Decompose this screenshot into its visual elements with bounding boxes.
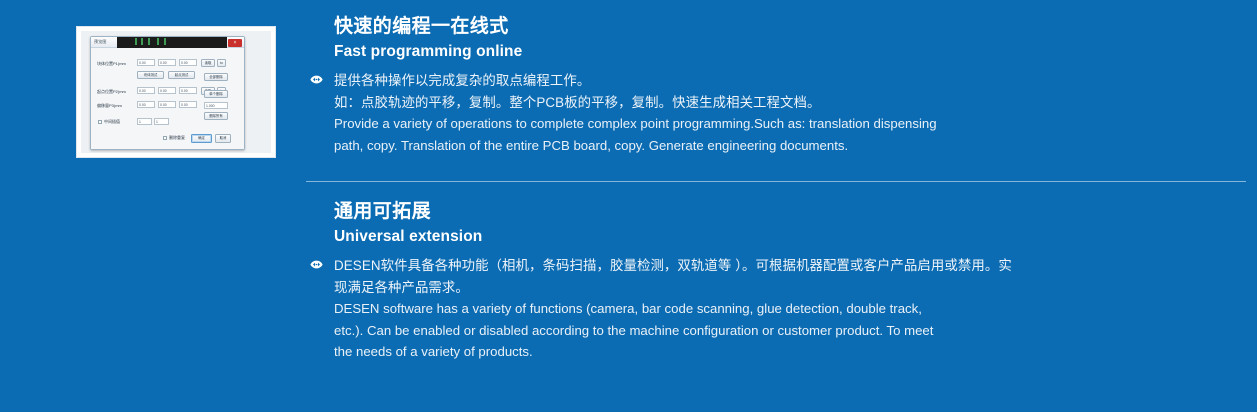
section-2-line-1: DESEN软件具备各种功能（相机，条码扫描，胶量检测，双轨道等 ）。可根据机器配…: [334, 258, 1012, 273]
section-2-line-3: DESEN software has a variety of function…: [334, 301, 922, 316]
section-1-line-3: Provide a variety of operations to compl…: [334, 116, 937, 131]
section-2-bullet-row: DESEN软件具备各种功能（相机，条码扫描，胶量检测，双轨道等 ）。可根据机器配…: [306, 255, 1246, 363]
feature-section-fast-programming: 快速的编程一在线式 Fast programming online 提供各种操作…: [306, 14, 1246, 156]
input-interp-2[interactable]: 1: [154, 118, 169, 125]
input-interp-1[interactable]: 1: [137, 118, 152, 125]
section-1-bullet-row: 提供各种操作以完成复杂的取点编程工作。 如：点胶轨迹的平移，复制。整个PCB板的…: [306, 70, 1246, 156]
button-to-p1[interactable]: to: [217, 59, 226, 67]
input-p1-z[interactable]: 0.00: [179, 59, 197, 66]
close-icon[interactable]: ×: [228, 39, 242, 47]
input-p1-y[interactable]: 0.00: [158, 59, 176, 66]
section-2-line-2: 现满足各种产品需求。: [334, 280, 469, 295]
section-2-paragraph: DESEN软件具备各种功能（相机，条码扫描，胶量检测，双轨道等 ）。可根据机器配…: [334, 255, 1246, 363]
dialog-titlebar: 预览图 ×: [91, 37, 244, 48]
checkbox-interpolation[interactable]: [98, 120, 102, 124]
button-block-test[interactable]: 块体测试: [137, 71, 164, 79]
input-p3-y[interactable]: 0.00: [158, 101, 176, 108]
feature-section-universal-extension: 通用可拓展 Universal extension DESEN软件具备各种功能（…: [306, 199, 1246, 363]
section-2-line-5: the needs of a variety of products.: [334, 344, 533, 359]
input-p2-x[interactable]: 0.00: [137, 87, 155, 94]
field-label-p2: 起点位置P2(mm: [97, 89, 126, 95]
button-delete-single[interactable]: 单个删除: [204, 90, 228, 98]
checkbox-label-remove-duplicate: 删除重复: [169, 135, 185, 141]
page-root: { "theme": { "background": "#0c6cb3", "t…: [0, 0, 1257, 412]
section-1-heading-en: Fast programming online: [334, 41, 1246, 63]
input-side-value[interactable]: 1.000: [204, 102, 228, 109]
content-column: 快速的编程一在线式 Fast programming online 提供各种操作…: [306, 0, 1246, 412]
input-p2-z[interactable]: 0.00: [179, 87, 197, 94]
dialog-title: 预览图: [94, 39, 107, 45]
section-1-line-1: 提供各种操作以完成复杂的取点编程工作。: [334, 73, 590, 88]
input-p1-x[interactable]: 0.00: [137, 59, 155, 66]
checkbox-label-interpolation: 中间插值: [104, 119, 120, 125]
left-right-arrow-icon: [310, 75, 323, 84]
button-read-p1[interactable]: 读取: [201, 59, 215, 67]
button-start-test[interactable]: 起点测试: [168, 71, 195, 79]
software-screenshot-thumbnail[interactable]: 预览图 × 块体位置P1(mm 0.00 0.00 0.00 读取 to 块体测…: [76, 26, 276, 158]
section-2-heading-en: Universal extension: [334, 226, 1246, 248]
section-2-line-4: etc.). Can be enabled or disabled accord…: [334, 323, 933, 338]
section-2-heading-cn: 通用可拓展: [334, 199, 1246, 225]
section-1-heading-cn: 快速的编程一在线式: [334, 14, 1246, 40]
section-1-line-4: path, copy. Translation of the entire PC…: [334, 138, 848, 153]
input-p2-y[interactable]: 0.00: [158, 87, 176, 94]
button-delete-every[interactable]: 删除所有: [204, 112, 228, 120]
section-1-paragraph: 提供各种操作以完成复杂的取点编程工作。 如：点胶轨迹的平移，复制。整个PCB板的…: [334, 70, 1246, 156]
button-cancel[interactable]: 取消: [215, 134, 231, 143]
dialog-body: 块体位置P1(mm 0.00 0.00 0.00 读取 to 块体测试 起点测试…: [91, 48, 244, 149]
titlebar-stripes: [117, 37, 227, 48]
screenshot-canvas: 预览图 × 块体位置P1(mm 0.00 0.00 0.00 读取 to 块体测…: [81, 31, 271, 153]
field-label-p1: 块体位置P1(mm: [97, 61, 126, 67]
windows-dialog-mock: 预览图 × 块体位置P1(mm 0.00 0.00 0.00 读取 to 块体测…: [90, 36, 245, 150]
button-ok[interactable]: 确定: [191, 134, 212, 143]
button-delete-all[interactable]: 全部删除: [204, 73, 228, 81]
input-p3-z[interactable]: 0.00: [179, 101, 197, 108]
section-1-line-2: 如：点胶轨迹的平移，复制。整个PCB板的平移，复制。快速生成相关工程文档。: [334, 95, 821, 110]
input-p3-x[interactable]: 0.00: [137, 101, 155, 108]
field-label-p3: 偏移量P3(mm: [97, 103, 122, 109]
checkbox-remove-duplicate[interactable]: [163, 136, 167, 140]
left-right-arrow-icon: [310, 260, 323, 269]
